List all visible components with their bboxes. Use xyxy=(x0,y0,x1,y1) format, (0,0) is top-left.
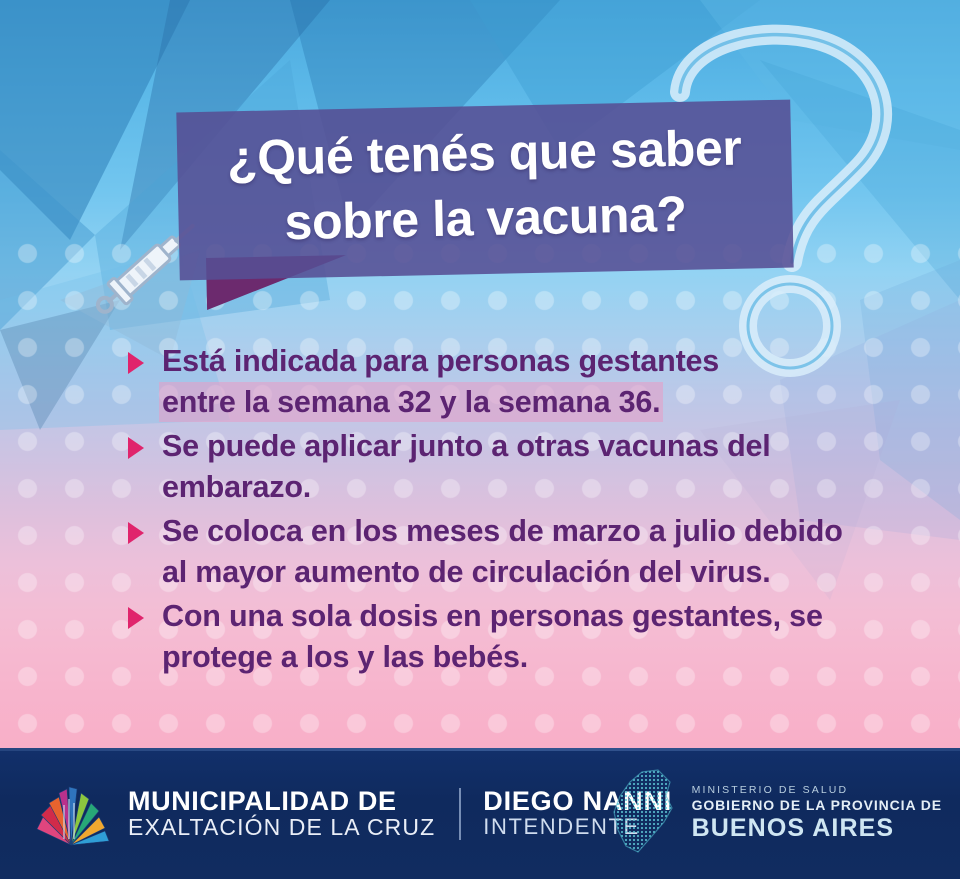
bullet-text-3: Se coloca en los meses de marzo a julio … xyxy=(162,511,910,592)
bullet-3-bold-julio: julio xyxy=(674,514,736,548)
bullet-item-3: Se coloca en los meses de marzo a julio … xyxy=(120,511,910,592)
province-line-3: BUENOS AIRES xyxy=(692,814,942,843)
province-block: MINISTERIO DE SALUD GOBIERNO DE LA PROVI… xyxy=(608,766,942,862)
buenos-aires-map-icon xyxy=(608,766,682,862)
bullet-list: Está indicada para personas gestantes en… xyxy=(120,341,910,682)
footer-divider xyxy=(459,788,461,840)
bullet-item-2: Se puede aplicar junto a otras vacunas d… xyxy=(120,426,910,507)
bullet-3-bold-marzo: marzo xyxy=(552,514,641,548)
municipality-text: MUNICIPALIDAD DE EXALTACIÓN DE LA CRUZ xyxy=(128,787,435,841)
bullet-3-part-1: Se coloca en los meses de xyxy=(162,514,552,548)
bullet-1-highlight: entre la semana 32 y la semana 36. xyxy=(162,385,660,419)
province-text: MINISTERIO DE SALUD GOBIERNO DE LA PROVI… xyxy=(692,784,942,843)
bullet-1-line-1: Está indicada para personas gestantes xyxy=(162,344,719,378)
bullet-2-line-2: embarazo. xyxy=(162,470,311,504)
bullet-2-line-1: Se puede aplicar junto a otras vacunas d… xyxy=(162,429,771,463)
bullet-triangle-icon xyxy=(128,352,144,374)
bullet-4-line-2: protege a los y las bebés. xyxy=(162,640,528,674)
title-line-2: sobre la vacuna? xyxy=(284,182,687,255)
bullet-triangle-icon xyxy=(128,437,144,459)
municipality-fan-logo xyxy=(28,777,114,851)
bullet-text-4: Con una sola dosis en personas gestantes… xyxy=(162,596,910,677)
bullet-item-4: Con una sola dosis en personas gestantes… xyxy=(120,596,910,677)
bullet-3-line-2: al mayor aumento de circulación del viru… xyxy=(162,555,771,589)
bullet-triangle-icon xyxy=(128,607,144,629)
title-banner: ¿Qué tenés que saber sobre la vacuna? xyxy=(178,106,792,274)
municipality-line-2: EXALTACIÓN DE LA CRUZ xyxy=(128,815,435,841)
bullet-text-1: Está indicada para personas gestantes en… xyxy=(162,341,910,422)
bullet-triangle-icon xyxy=(128,522,144,544)
bullet-text-2: Se puede aplicar junto a otras vacunas d… xyxy=(162,426,910,507)
bullet-3-part-2: a xyxy=(641,514,674,548)
bullet-3-part-3: debido xyxy=(736,514,843,548)
footer-bar: MUNICIPALIDAD DE EXALTACIÓN DE LA CRUZ D… xyxy=(0,748,960,879)
bullet-4-line-1: Con una sola dosis en personas gestantes… xyxy=(162,599,823,633)
infographic-poster: ¿Qué tenés que saber sobre la vacuna? Es… xyxy=(0,0,960,879)
title-line-1: ¿Qué tenés que saber xyxy=(226,116,742,192)
province-line-1: MINISTERIO DE SALUD xyxy=(692,784,942,797)
municipality-line-1: MUNICIPALIDAD DE xyxy=(128,787,435,815)
bullet-item-1: Está indicada para personas gestantes en… xyxy=(120,341,910,422)
banner-body: ¿Qué tenés que saber sobre la vacuna? xyxy=(176,100,793,281)
province-line-2: GOBIERNO DE LA PROVINCIA DE xyxy=(692,797,942,815)
